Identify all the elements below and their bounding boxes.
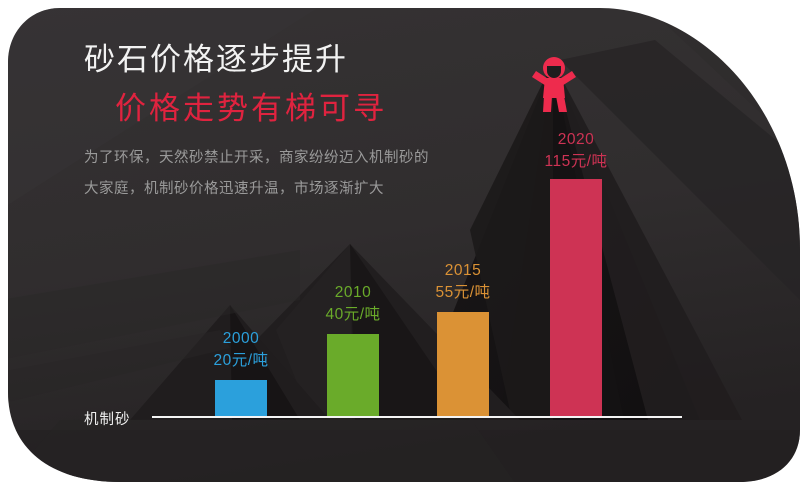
bar-label-2015: 2015 55元/吨 [418,260,508,304]
bar-year-2015: 2015 [418,260,508,282]
bar-value-2015: 55元/吨 [418,282,508,304]
bar-year-2010: 2010 [308,282,398,304]
axis-caption: 机制砂 [84,408,131,429]
bar-label-2020: 2020 115元/吨 [528,129,624,173]
bar-2010[interactable] [327,334,379,417]
bar-label-2000: 2000 20元/吨 [196,328,286,372]
bar-2000[interactable] [215,380,267,417]
bar-value-2000: 20元/吨 [196,350,286,372]
bar-label-2010: 2010 40元/吨 [308,282,398,326]
infographic-canvas: 砂石价格逐步提升 价格走势有梯可寻 为了环保，天然砂禁止开采，商家纷纷迈入机制砂… [0,0,800,490]
bar-chart: 2000 20元/吨 2010 40元/吨 2015 55元/吨 2020 11… [0,0,800,490]
axis-baseline [152,416,682,418]
celebrating-person-icon [528,55,580,113]
bar-2020[interactable] [550,179,602,417]
bar-value-2020: 115元/吨 [528,151,624,173]
bar-2015[interactable] [437,312,489,417]
bar-year-2020: 2020 [528,129,624,151]
bar-value-2010: 40元/吨 [308,304,398,326]
bar-year-2000: 2000 [196,328,286,350]
